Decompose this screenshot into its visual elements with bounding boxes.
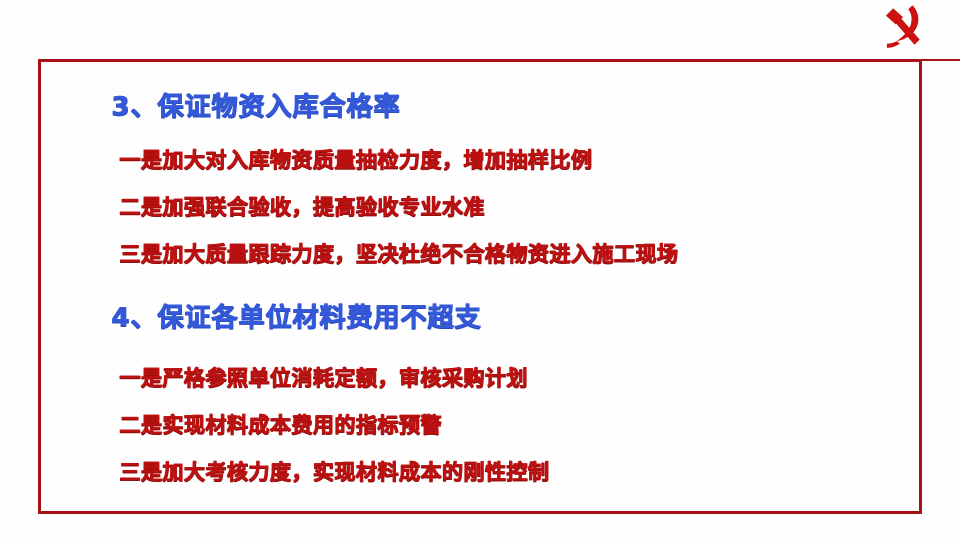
section-4-bullet-3: 三是加大考核力度，实现材料成本的刚性控制: [119, 456, 549, 486]
section-3-bullet-3: 三是加大质量跟踪力度，坚决杜绝不合格物资进入施工现场: [119, 238, 678, 268]
content-inner: 3、保证物资入库合格率 一是加大对入库物资质量抽检力度，增加抽样比例 二是加强联…: [41, 62, 919, 511]
top-divider-rule: [920, 59, 960, 61]
section-heading-3: 3、保证物资入库合格率: [111, 86, 400, 123]
section-4-bullet-2: 二是实现材料成本费用的指标预警: [119, 409, 442, 439]
cpc-party-emblem-icon: [872, 0, 932, 52]
section-3-bullet-2: 二是加强联合验收，提高验收专业水准: [119, 191, 485, 221]
section-4-bullet-1: 一是严格参照单位消耗定额，审核采购计划: [119, 362, 528, 392]
section-3-bullet-1: 一是加大对入库物资质量抽检力度，增加抽样比例: [119, 144, 592, 174]
section-heading-4: 4、保证各单位材料费用不超支: [111, 297, 481, 334]
presentation-slide: 3、保证物资入库合格率 一是加大对入库物资质量抽检力度，增加抽样比例 二是加强联…: [0, 0, 960, 540]
content-frame: 3、保证物资入库合格率 一是加大对入库物资质量抽检力度，增加抽样比例 二是加强联…: [38, 59, 922, 514]
